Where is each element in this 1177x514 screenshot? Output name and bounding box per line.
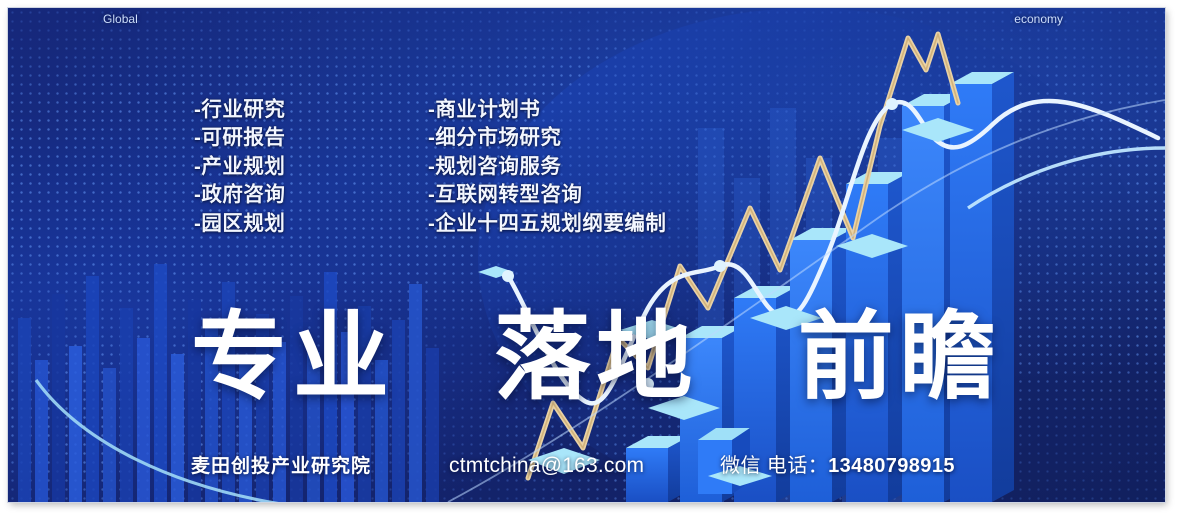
headline-word-3: 前瞻	[798, 304, 1002, 411]
service-item: -细分市场研究	[428, 124, 666, 152]
data-visualization-artwork	[8, 8, 1165, 502]
footer-contact-row: 麦田创投产业研究院 ctmtchina@163.com 微信 电话：134807…	[191, 449, 955, 478]
kicker-letter: o	[1040, 12, 1047, 26]
service-list-left: -行业研究 -可研报告 -产业规划 -政府咨询 -园区规划	[194, 96, 285, 238]
kicker-global-economy: G l o b a l e c o n o m y	[103, 12, 1063, 26]
kicker-letter: G	[103, 12, 112, 26]
service-list-right: -商业计划书 -细分市场研究 -规划咨询服务 -互联网转型咨询 -企业十四五规划…	[428, 96, 666, 238]
headline-word-1: 专业	[191, 304, 395, 411]
kicker-word-gap	[138, 12, 1015, 26]
kicker-letter: o	[115, 12, 122, 26]
promo-banner: G l o b a l e c o n o m y -行业研究 -可研报告 -产…	[8, 8, 1165, 502]
service-item: -互联网转型咨询	[428, 181, 666, 209]
kicker-letter: e	[1014, 12, 1021, 26]
phone-contact: 微信 电话：13480798915	[720, 449, 955, 478]
company-name: 麦田创投产业研究院	[191, 451, 371, 478]
service-item: -商业计划书	[428, 96, 666, 124]
service-item: -产业规划	[194, 153, 285, 181]
service-item: -园区规划	[194, 210, 285, 238]
headline-word-2: 落地	[494, 304, 698, 411]
phone-number: 13480798915	[828, 455, 955, 477]
email-address[interactable]: ctmtchina@163.com	[449, 454, 644, 478]
service-item: -可研报告	[194, 124, 285, 152]
service-item: -行业研究	[194, 96, 285, 124]
headline: 专业 落地 前瞻	[191, 306, 1002, 410]
kicker-letter: m	[1047, 12, 1057, 26]
kicker-letter: o	[1027, 12, 1034, 26]
contact-label: 微信 电话：	[720, 455, 828, 477]
kicker-letter: y	[1057, 12, 1063, 26]
service-item: -政府咨询	[194, 181, 285, 209]
service-item: -企业十四五规划纲要编制	[428, 210, 666, 238]
service-item: -规划咨询服务	[428, 153, 666, 181]
